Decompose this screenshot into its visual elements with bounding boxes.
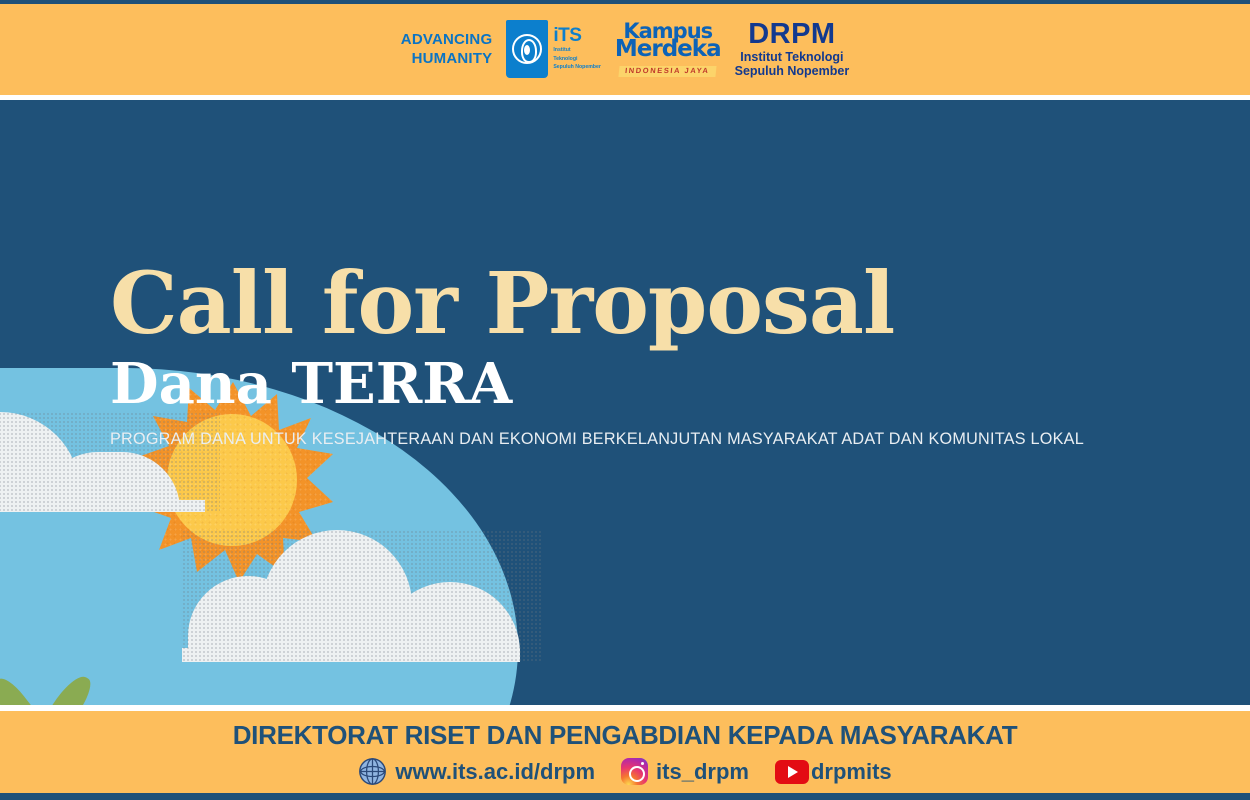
its-emblem-icon	[512, 34, 542, 64]
cloud-right-icon	[182, 530, 542, 662]
its-shield-icon	[506, 20, 548, 78]
footer-title: DIREKTORAT RISET DAN PENGABDIAN KEPADA M…	[233, 720, 1018, 751]
footer-link-youtube-label: drpmits	[811, 759, 892, 785]
header-logo-bar: ADVANCING HUMANITY iTS Institut Teknolog…	[0, 4, 1250, 95]
advancing-humanity-line2: HUMANITY	[401, 49, 493, 68]
hero-text-block: Call for Proposal Dana TERRA PROGRAM DAN…	[110, 260, 1084, 449]
hero-subtitle: Dana TERRA	[110, 354, 1084, 414]
its-logo-sub-3: Sepuluh Nopember	[553, 64, 601, 71]
advancing-humanity-line1: ADVANCING	[401, 30, 493, 49]
cloud-left-base	[0, 500, 205, 512]
footer-bar: DIREKTORAT RISET DAN PENGABDIAN KEPADA M…	[0, 711, 1250, 793]
its-logo-name: iTS	[553, 26, 601, 45]
footer-link-youtube[interactable]: drpmits	[775, 759, 892, 785]
kampus-merdeka-logo: Kampus Merdeka INDONESIA JAYA	[615, 21, 721, 77]
kampus-merdeka-line2: Merdeka	[615, 38, 721, 61]
its-logo-text: iTS Institut Teknologi Sepuluh Nopember	[553, 26, 601, 71]
drpm-logo-sub-2: Sepuluh Nopember	[735, 65, 850, 78]
footer-link-website[interactable]: www.its.ac.id/drpm	[358, 757, 595, 786]
footer-links: www.its.ac.id/drpm its_drpm drpmits	[358, 757, 891, 786]
drpm-logo-sub-1: Institut Teknologi	[735, 51, 850, 64]
hero-title: Call for Proposal	[110, 260, 1084, 348]
cloud-right-base	[182, 648, 520, 662]
bottom-accent-strip	[0, 793, 1250, 800]
hero-stage: Call for Proposal Dana TERRA PROGRAM DAN…	[0, 100, 1250, 705]
footer-link-website-label: www.its.ac.id/drpm	[395, 759, 595, 785]
drpm-logo-title: DRPM	[735, 20, 850, 49]
poster-canvas: ADVANCING HUMANITY iTS Institut Teknolog…	[0, 0, 1250, 800]
footer-link-instagram[interactable]: its_drpm	[621, 758, 749, 785]
its-logo-sub-2: Teknologi	[553, 56, 601, 63]
youtube-icon	[775, 760, 809, 784]
its-logo-sub-1: Institut	[553, 47, 601, 54]
its-logo: iTS Institut Teknologi Sepuluh Nopember	[506, 20, 601, 78]
advancing-humanity-tagline: ADVANCING HUMANITY	[401, 30, 493, 68]
drpm-logo: DRPM Institut Teknologi Sepuluh Nopember	[735, 20, 850, 78]
hero-description: PROGRAM DANA UNTUK KESEJAHTERAAN DAN EKO…	[110, 430, 1084, 449]
globe-icon	[358, 757, 387, 786]
header-logo-group: ADVANCING HUMANITY iTS Institut Teknolog…	[401, 20, 849, 78]
footer-link-instagram-label: its_drpm	[656, 759, 749, 785]
kampus-merdeka-ribbon: INDONESIA JAYA	[619, 66, 717, 77]
instagram-icon	[621, 758, 648, 785]
